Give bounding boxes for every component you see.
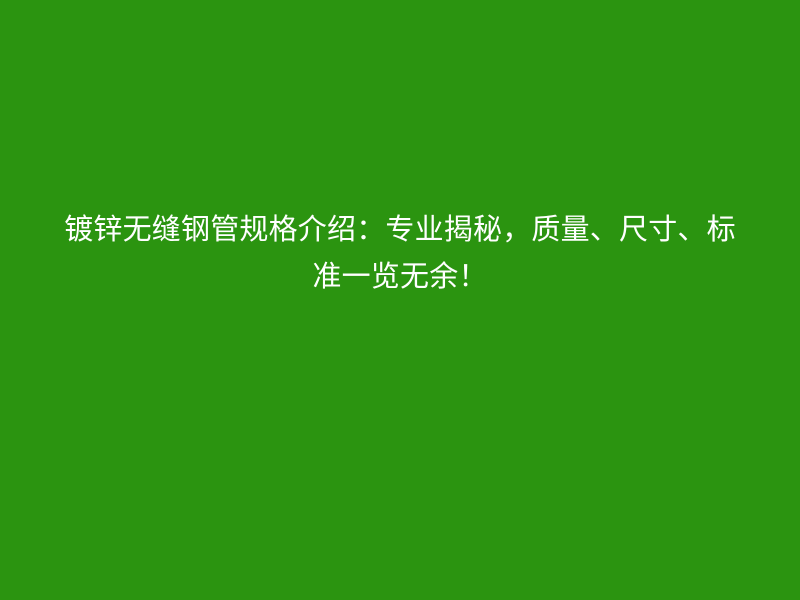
title-block: 镀锌无缝钢管规格介绍：专业揭秘，质量、尺寸、标准一览无余！ <box>50 207 750 301</box>
title-banner: 镀锌无缝钢管规格介绍：专业揭秘，质量、尺寸、标准一览无余！ <box>0 0 800 600</box>
page-title: 镀锌无缝钢管规格介绍：专业揭秘，质量、尺寸、标准一览无余！ <box>50 207 750 301</box>
